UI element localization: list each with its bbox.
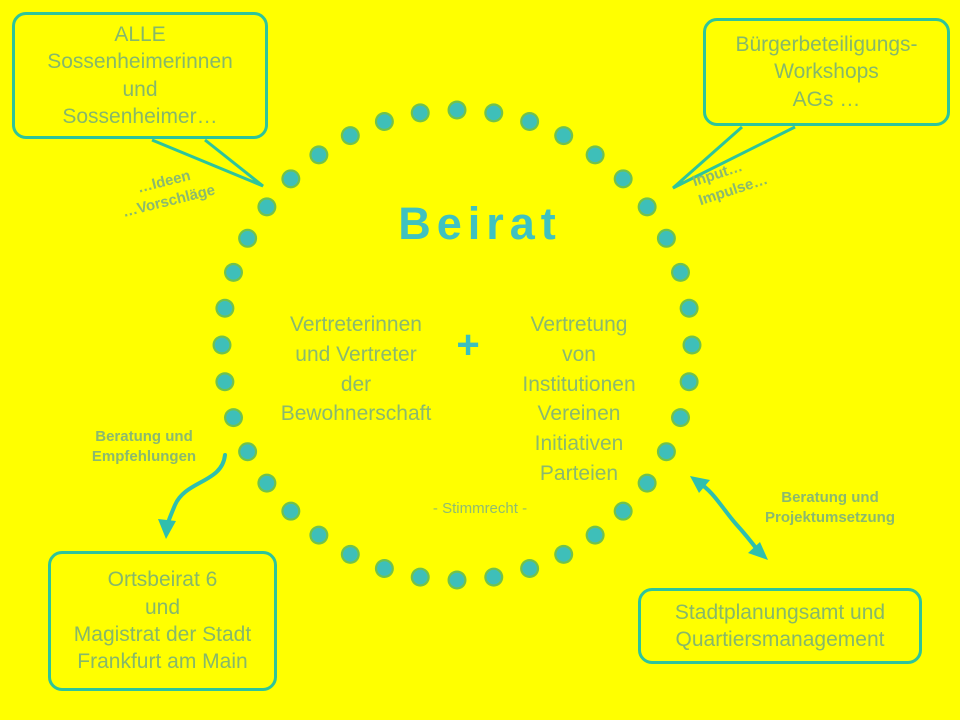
ring-dot (484, 568, 503, 587)
ring-dot-core (682, 374, 697, 389)
ring-dot-core (226, 410, 241, 425)
ring-dot (341, 126, 360, 145)
annotation-beratung-empfehlungen: Beratung und Empfehlungen (72, 427, 216, 466)
ring-dot (257, 474, 276, 493)
ring-dot (520, 559, 539, 578)
ring-dot-core (260, 476, 275, 491)
ring-dot-core (522, 114, 537, 129)
ring-dot (680, 372, 699, 391)
ring-dot-core (685, 338, 700, 353)
ring-dot-core (215, 338, 230, 353)
ring-dot-core (377, 561, 392, 576)
ring-dot-core (218, 301, 233, 316)
bubble-alle-sossenheimer[interactable]: ALLE Sossenheimerinnen und Sossenheimer… (12, 12, 268, 139)
ring-dot (411, 568, 430, 587)
ring-dot-core (413, 106, 428, 121)
annotation-beratung-projektumsetzung: Beratung und Projektumsetzung (747, 488, 913, 527)
ring-dot (484, 103, 503, 122)
ring-dot (586, 145, 605, 164)
members-column-institutionen: Vertretung von Institutionen Vereinen In… (490, 310, 668, 489)
ring-dot-core (588, 528, 603, 543)
ring-dot (683, 336, 702, 355)
bubble-buergerbeteiligungs-workshops[interactable]: Bürgerbeteiligungs- Workshops AGs … (703, 18, 950, 126)
ring-dot (215, 299, 234, 318)
ring-dot-core (486, 106, 501, 121)
ring-dot (448, 571, 467, 590)
ring-dot (671, 263, 690, 282)
ring-dot-core (673, 410, 688, 425)
ring-dot-core (312, 148, 327, 163)
ring-dot (375, 559, 394, 578)
ring-dot (281, 169, 300, 188)
arrow-beratung-empfehlungen (166, 455, 225, 531)
ring-dot-core (413, 570, 428, 585)
ring-dot-core (682, 301, 697, 316)
ring-dot-core (284, 172, 299, 187)
ring-dot-core (377, 114, 392, 129)
ring-dot-core (312, 528, 327, 543)
ring-dot-core (522, 561, 537, 576)
ring-dot-core (218, 374, 233, 389)
ring-dot (309, 145, 328, 164)
plus-icon: + (443, 325, 493, 365)
ring-dot (224, 408, 243, 427)
ring-dot (238, 442, 257, 461)
ring-dot (586, 526, 605, 545)
ring-dot-core (588, 148, 603, 163)
ring-dot-core (343, 128, 358, 143)
ring-dot (213, 336, 232, 355)
ring-dot-core (556, 547, 571, 562)
ring-dot (614, 169, 633, 188)
ring-dot-core (556, 128, 571, 143)
ring-dot-core (343, 547, 358, 562)
arrowhead-down-right (748, 542, 768, 560)
ring-dot (520, 112, 539, 131)
ring-dot (448, 101, 467, 120)
ring-dot-core (673, 265, 688, 280)
ring-dot (554, 545, 573, 564)
ring-dot (671, 408, 690, 427)
ring-dot (554, 126, 573, 145)
ring-dot-core (486, 570, 501, 585)
box-ortsbeirat-magistrat[interactable]: Ortsbeirat 6 und Magistrat der Stadt Fra… (48, 551, 277, 691)
ring-dot (375, 112, 394, 131)
ring-dot-core (616, 172, 631, 187)
arrowhead-up-left (690, 476, 710, 493)
ring-dot (341, 545, 360, 564)
ring-dot (309, 526, 328, 545)
ring-dot-core (226, 265, 241, 280)
diagram-canvas: ALLE Sossenheimerinnen und Sossenheimer…… (0, 0, 960, 720)
ring-dot (411, 103, 430, 122)
members-column-bewohnerschaft: Vertreterinnen und Vertreter der Bewohne… (258, 310, 454, 429)
ring-dot (224, 263, 243, 282)
ring-dot (680, 299, 699, 318)
ring-dot-core (450, 573, 465, 588)
ring-dot (215, 372, 234, 391)
ring-dot-core (450, 103, 465, 118)
box-stadtplanungsamt-quartiersmanagement[interactable]: Stadtplanungsamt und Quartiersmanagement (638, 588, 922, 664)
ring-dot-core (240, 444, 255, 459)
arrowhead-down-left (158, 519, 176, 539)
